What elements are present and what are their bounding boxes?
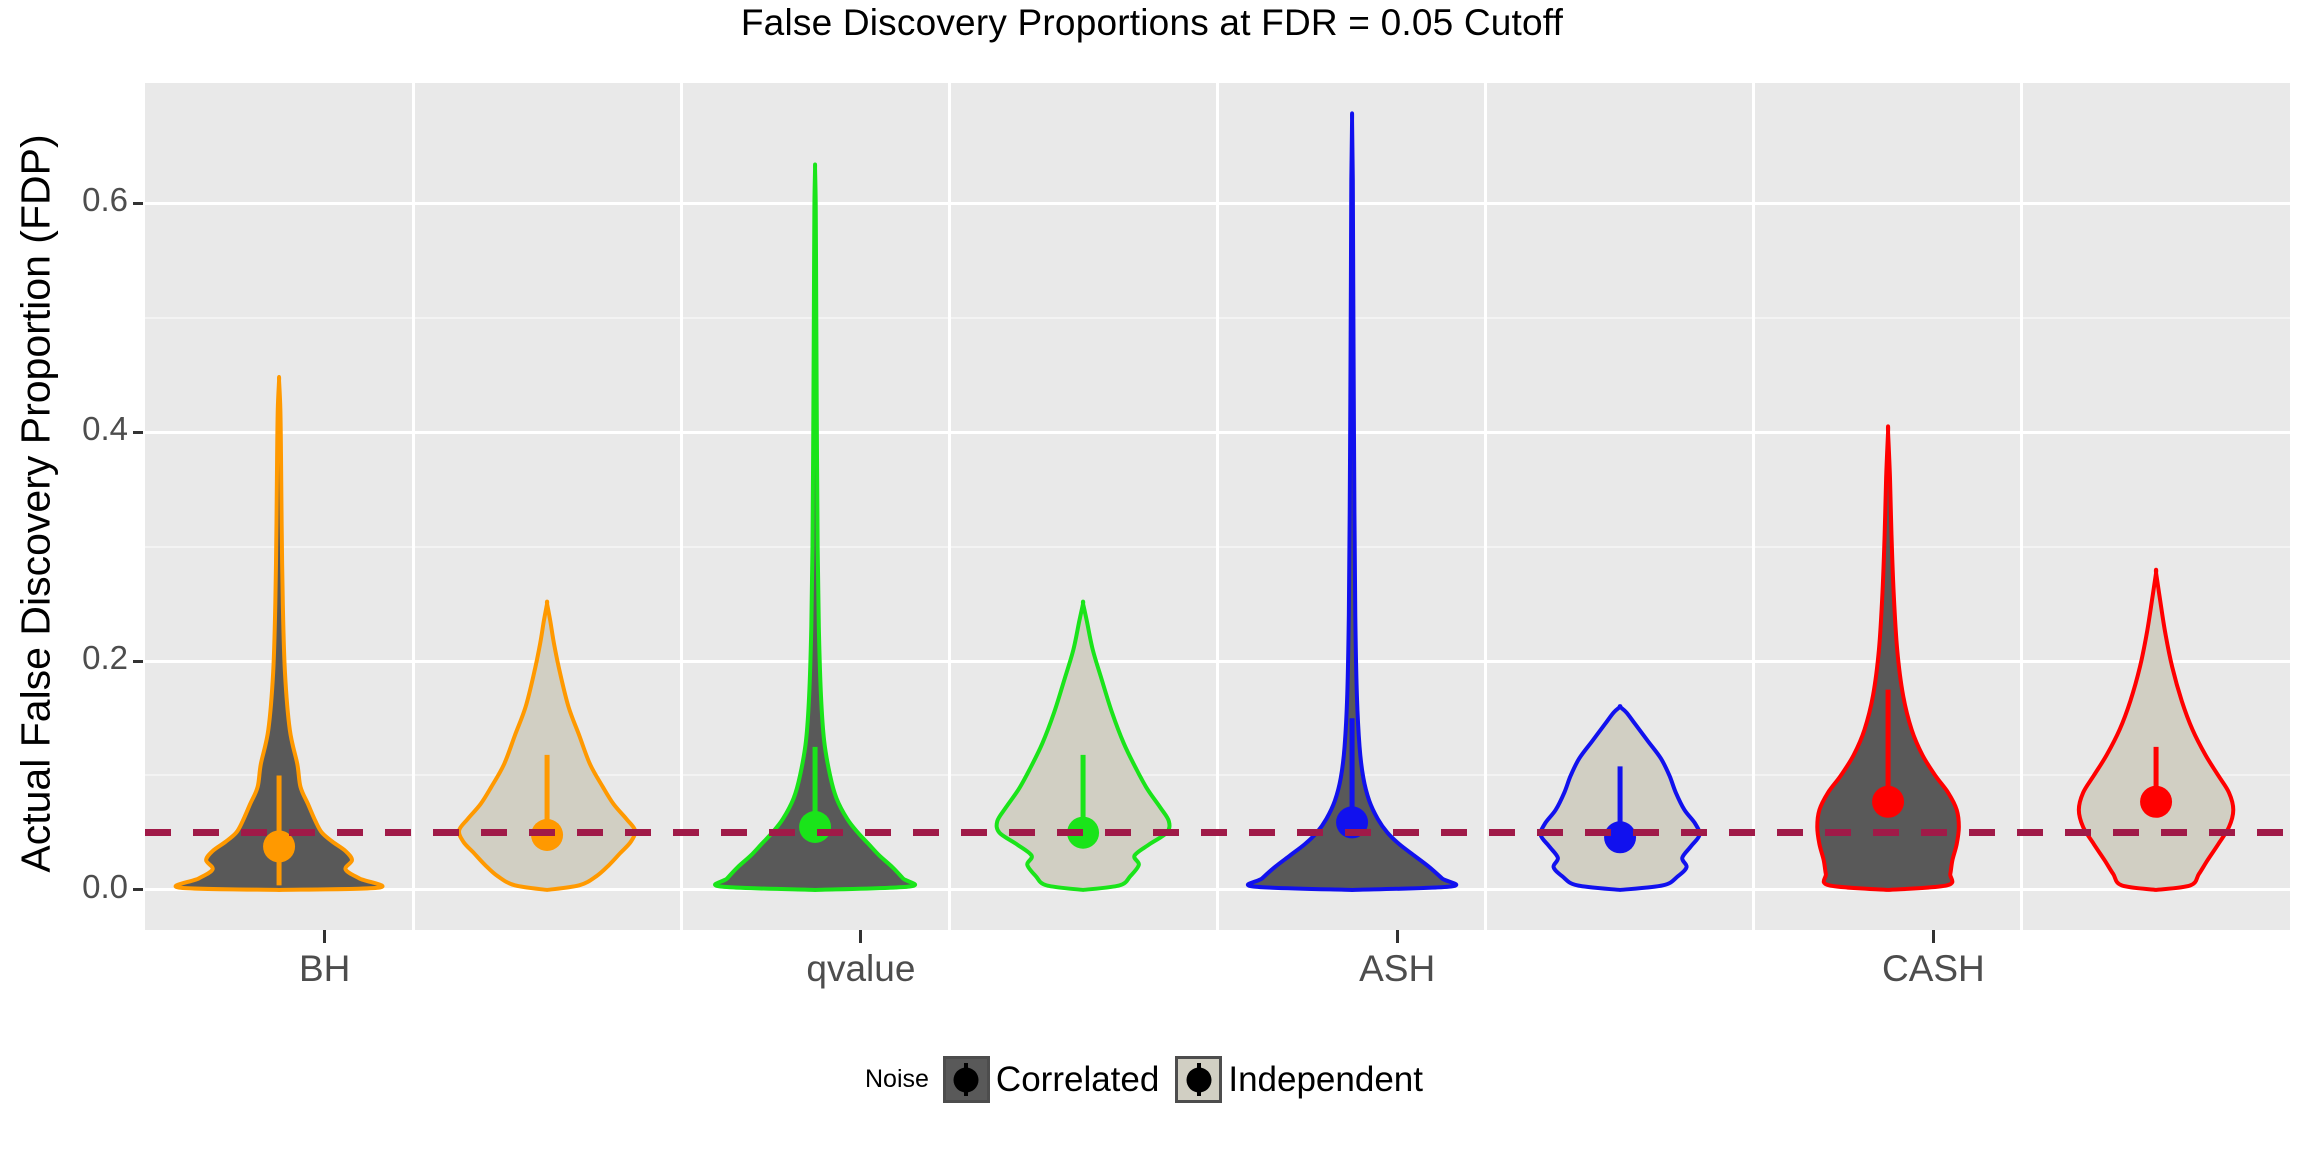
fdr-cutoff-line [145, 829, 2290, 836]
legend-key-dot-icon [1186, 1067, 1211, 1092]
y-tick-label: 0.6 [82, 181, 128, 219]
y-tick-label: 0.2 [82, 639, 128, 677]
x-tick-label: qvalue [806, 948, 915, 990]
violin-ash-correlated [1218, 83, 1486, 930]
violin-shape [1247, 113, 1455, 890]
plot-panel [145, 83, 2290, 930]
violin-shape [459, 602, 635, 890]
violin-shape [1540, 706, 1699, 890]
violin-chart: False Discovery Proportions at FDR = 0.0… [0, 0, 2304, 1152]
legend-title: Noise [865, 1065, 929, 1094]
violin-shape [2079, 570, 2233, 890]
violin-qvalue-correlated [681, 83, 949, 930]
violin-shape [715, 165, 915, 890]
median-point [2140, 786, 2172, 818]
panel-separator [680, 83, 683, 930]
violin-shape [176, 377, 383, 890]
median-point [1872, 786, 1904, 818]
panel-separator [2020, 83, 2023, 930]
y-axis-title: Actual False Discovery Proportion (FDP) [13, 64, 60, 944]
violin-shape [1817, 426, 1959, 890]
median-point [799, 811, 831, 843]
legend-item-independent[interactable]: Independent [1175, 1056, 1439, 1103]
legend: Noise Correlated Independent [0, 1056, 2304, 1103]
panel-separator [412, 83, 415, 930]
legend-label-independent: Independent [1228, 1060, 1423, 1100]
x-tick-mark [1396, 930, 1399, 943]
x-tick-label: BH [299, 948, 350, 990]
x-tick-mark [859, 930, 862, 943]
chart-title: False Discovery Proportions at FDR = 0.0… [0, 2, 2304, 44]
x-tick-mark [323, 930, 326, 943]
y-tick-label: 0.4 [82, 410, 128, 448]
y-tick-label: 0.0 [82, 868, 128, 906]
legend-key-correlated [943, 1056, 990, 1103]
violin-cash-correlated [1754, 83, 2022, 930]
violin-ash-independent [1486, 83, 1754, 930]
y-tick-mark [133, 660, 143, 663]
y-tick-mark [133, 202, 143, 205]
violin-qvalue-independent [949, 83, 1217, 930]
legend-key-dot-icon [954, 1067, 979, 1092]
panel-separator [1484, 83, 1487, 930]
y-tick-mark [133, 431, 143, 434]
violin-shape [997, 602, 1170, 890]
legend-key-independent [1175, 1056, 1222, 1103]
panel-separator [1752, 83, 1755, 930]
x-tick-label: CASH [1882, 948, 1985, 990]
violin-bh-correlated [145, 83, 413, 930]
violin-cash-independent [2022, 83, 2290, 930]
panel-separator [1216, 83, 1219, 930]
y-tick-mark [133, 888, 143, 891]
panel-separator [948, 83, 951, 930]
median-point [1604, 821, 1636, 853]
legend-item-correlated[interactable]: Correlated [943, 1056, 1175, 1103]
violin-bh-independent [413, 83, 681, 930]
x-tick-mark [1932, 930, 1935, 943]
x-tick-label: ASH [1359, 948, 1435, 990]
legend-label-correlated: Correlated [996, 1060, 1159, 1100]
